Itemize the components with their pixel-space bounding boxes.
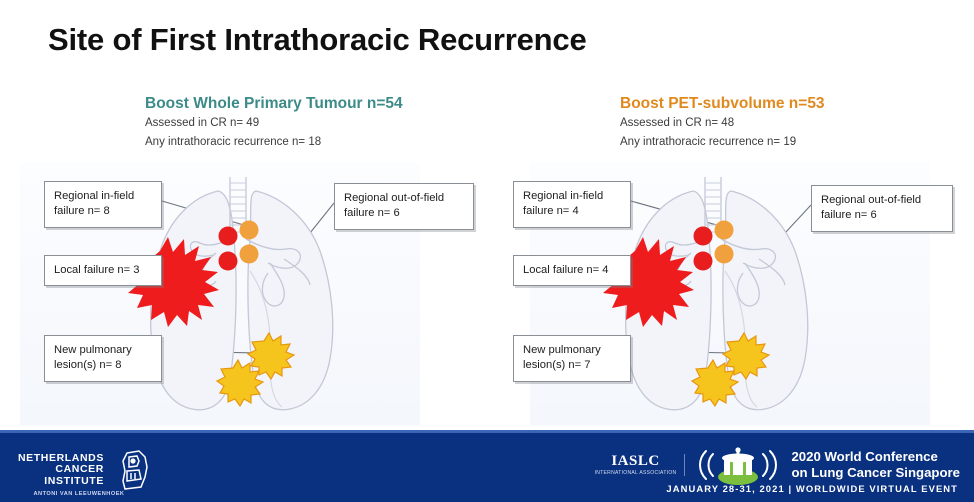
iaslc-wclc-logo: IASLC INTERNATIONAL ASSOCIATION <box>595 443 960 487</box>
panel-header: Boost Whole Primary Tumour n=54 Assessed… <box>145 95 403 150</box>
callout-new-pulmonary-lesions: New pulmonary lesion(s) n= 7 <box>513 335 631 382</box>
lung-figure: Regional in-field failure n= 8 Local fai… <box>20 163 480 425</box>
nki-line-2: CANCER <box>18 464 104 475</box>
iaslc-mark: IASLC INTERNATIONAL ASSOCIATION <box>595 454 686 476</box>
nki-line-3: INSTITUTE <box>18 476 104 487</box>
assessed-in-cr: Assessed in CR n= 49 <box>145 116 403 132</box>
callout-line-1: Regional in-field <box>54 189 152 204</box>
nki-tagline: ANTONI VAN LEEUWENHOEK <box>18 491 140 497</box>
callout-line-2: failure n= 6 <box>344 206 464 221</box>
callout-regional-out-of-field-failure: Regional out-of-field failure n= 6 <box>334 183 474 230</box>
slide: Site of First Intrathoracic Recurrence B… <box>0 0 974 502</box>
callout-regional-in-field-failure: Regional in-field failure n= 4 <box>513 181 631 228</box>
callout-local-failure: Local failure n= 4 <box>513 255 631 286</box>
callout-regional-in-field-failure: Regional in-field failure n= 8 <box>44 181 162 228</box>
regional-outfield-node-2 <box>715 245 734 264</box>
page-title: Site of First Intrathoracic Recurrence <box>48 22 587 58</box>
nki-emblem-icon <box>111 447 157 493</box>
regional-outfield-node-1 <box>240 221 259 240</box>
regional-infield-node-2 <box>219 252 238 271</box>
panel-header: Boost PET-subvolume n=53 Assessed in CR … <box>620 95 825 150</box>
panel-heading: Boost PET-subvolume n=53 <box>620 95 825 113</box>
callout-line-1: Local failure n= 3 <box>54 263 152 278</box>
callout-new-pulmonary-lesions: New pulmonary lesion(s) n= 8 <box>44 335 162 382</box>
regional-infield-node-2 <box>694 252 713 271</box>
regional-infield-node-1 <box>219 227 238 246</box>
any-intrathoracic-recurrence: Any intrathoracic recurrence n= 19 <box>620 135 825 151</box>
callout-line-1: Regional out-of-field <box>821 193 943 208</box>
wclc-line-2: on Lung Cancer Singapore <box>791 465 960 481</box>
callout-line-2: lesion(s) n= 8 <box>54 358 152 373</box>
wclc-line-1: 2020 World Conference <box>791 449 960 465</box>
callout-line-1: Regional out-of-field <box>344 191 464 206</box>
callout-local-failure: Local failure n= 3 <box>44 255 162 286</box>
wclc-conference-name: 2020 World Conference on Lung Cancer Sin… <box>791 449 960 481</box>
panel-boost-whole-primary-tumour: Boost Whole Primary Tumour n=54 Assessed… <box>20 95 480 425</box>
callout-line-2: failure n= 6 <box>821 208 943 223</box>
regional-outfield-node-1 <box>715 221 734 240</box>
panel-boost-pet-subvolume: Boost PET-subvolume n=53 Assessed in CR … <box>495 95 955 425</box>
regional-outfield-node-2 <box>240 245 259 264</box>
callout-line-2: failure n= 8 <box>54 204 152 219</box>
panel-heading: Boost Whole Primary Tumour n=54 <box>145 95 403 113</box>
wclc-supertree-icon <box>694 443 782 487</box>
callout-line-2: lesion(s) n= 7 <box>523 358 621 373</box>
assessed-in-cr: Assessed in CR n= 48 <box>620 116 825 132</box>
netherlands-cancer-institute-logo: NETHERLANDS CANCER INSTITUTE <box>18 447 157 493</box>
lung-left <box>248 191 333 410</box>
callout-line-1: Local failure n= 4 <box>523 263 621 278</box>
callout-line-1: Regional in-field <box>523 189 621 204</box>
callout-regional-out-of-field-failure: Regional out-of-field failure n= 6 <box>811 185 953 232</box>
wclc-date-line: JANUARY 28-31, 2021 | WORLDWIDE VIRTUAL … <box>666 483 958 494</box>
iaslc-abbr: IASLC <box>595 454 677 469</box>
callout-line-1: New pulmonary <box>523 343 621 358</box>
iaslc-sub: INTERNATIONAL ASSOCIATION <box>595 471 677 476</box>
regional-infield-node-1 <box>694 227 713 246</box>
callout-line-1: New pulmonary <box>54 343 152 358</box>
lung-figure: Regional in-field failure n= 4 Local fai… <box>495 163 955 425</box>
slide-footer: NETHERLANDS CANCER INSTITUTE ANTONI VAN … <box>0 430 974 502</box>
lung-left <box>723 191 808 410</box>
nki-wordmark: NETHERLANDS CANCER INSTITUTE <box>18 453 104 487</box>
callout-line-2: failure n= 4 <box>523 204 621 219</box>
any-intrathoracic-recurrence: Any intrathoracic recurrence n= 18 <box>145 135 403 151</box>
